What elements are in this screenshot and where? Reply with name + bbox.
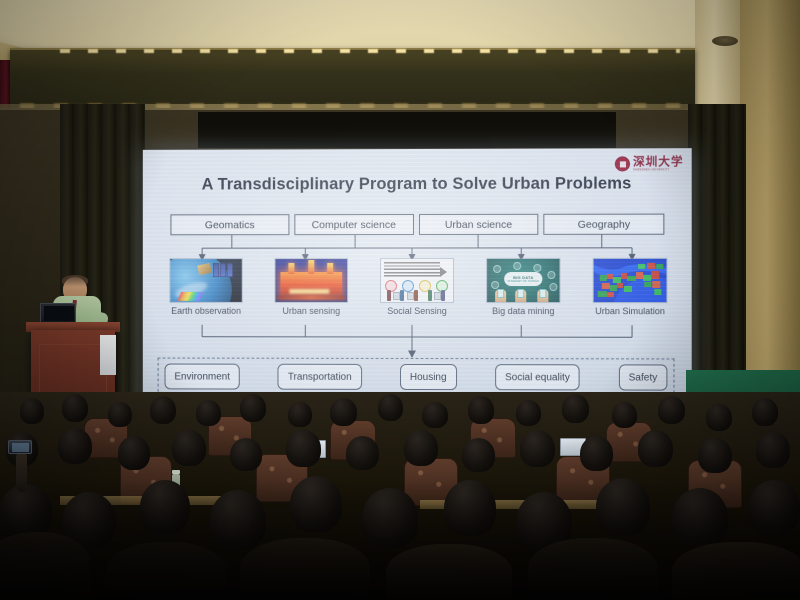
network-node-icon: [513, 262, 521, 270]
network-node-icon: [547, 271, 555, 279]
network-node-icon: [549, 283, 557, 291]
logo-text: 深圳大学: [633, 156, 684, 168]
conference-photo-scene: 深圳大学 SHENZHEN UNIVERSITY A Transdiscipli…: [0, 0, 800, 600]
bottle-cap: [172, 470, 180, 474]
audience-head: [444, 480, 496, 536]
method-row: Earth observation Urban sensing: [159, 259, 679, 316]
raised-arm: [16, 452, 27, 492]
audience-head: [422, 402, 448, 428]
spectral-swath-icon: [177, 292, 203, 301]
social-sensing-thumbnail: [381, 259, 453, 302]
audience-head: [172, 430, 206, 466]
person-placeholder: [393, 292, 400, 300]
seal-icon: [615, 156, 630, 171]
audience-head: [596, 478, 650, 536]
audience-head: [612, 402, 637, 428]
university-logo: 深圳大学 SHENZHEN UNIVERSITY: [615, 156, 684, 171]
audience-shoulders: [386, 544, 512, 600]
audience-shoulders: [672, 542, 800, 600]
method-label-urban-simulation: Urban Simulation: [595, 306, 665, 316]
landcover-map-svg: [594, 259, 667, 302]
person-placeholder: [407, 292, 414, 300]
audience-head: [108, 402, 132, 427]
audience-head: [698, 438, 732, 473]
person-figure-icon: [428, 290, 432, 301]
laptop-screen: [44, 306, 74, 321]
smartphone-icon: [497, 289, 504, 298]
network-node-icon: [533, 264, 541, 272]
person-figure-icon: [441, 290, 445, 301]
wall-dark-panel: [198, 112, 616, 148]
method-cell-earth-observation: Earth observation: [159, 259, 254, 316]
audience-head: [118, 436, 150, 470]
discipline-box-computer-science: Computer science: [294, 214, 413, 235]
logo-subtext: SHENZHEN UNIVERSITY: [633, 169, 684, 172]
big-data-line2: INTERNET OF THINGS: [508, 280, 539, 283]
big-data-mining-thumbnail: BIG DATA INTERNET OF THINGS: [487, 259, 559, 302]
audience-head: [362, 488, 418, 548]
audience-head: [240, 394, 266, 422]
method-cell-urban-sensing: Urban sensing: [264, 259, 360, 316]
method-label-big-data-mining: Big data mining: [492, 306, 554, 316]
audience-shoulders: [528, 538, 658, 600]
audience: [0, 392, 800, 600]
problem-box-transportation: Transportation: [278, 364, 362, 390]
beam-light-strip: [60, 49, 680, 53]
smartphone-icon: [539, 289, 546, 298]
solar-panel-icon: [220, 263, 226, 277]
projection-screen: 深圳大学 SHENZHEN UNIVERSITY A Transdiscipli…: [143, 148, 692, 416]
text-corpus-lines: [384, 262, 440, 278]
audience-head: [756, 432, 790, 468]
urban-sensing-thumbnail: [275, 259, 347, 302]
thermal-tower-icon: [308, 260, 314, 274]
audience-head: [230, 438, 262, 471]
big-data-cloud-icon: BIG DATA INTERNET OF THINGS: [504, 272, 542, 286]
audience-head: [468, 396, 494, 424]
problem-box-safety: Safety: [619, 364, 668, 390]
thermal-tower-icon: [288, 263, 294, 274]
audience-head: [516, 400, 541, 426]
network-node-icon: [493, 265, 501, 273]
ceiling-beam: [10, 48, 695, 110]
audience-head: [196, 400, 221, 426]
audience-head: [748, 480, 800, 536]
audience-head: [752, 398, 778, 426]
urban-problems-row: Environment Transportation Housing Socia…: [165, 364, 668, 391]
audience-head: [462, 438, 495, 472]
ceiling-vent-icon: [712, 36, 738, 46]
audience-head: [638, 430, 673, 467]
audience-head: [580, 436, 613, 471]
right-wall: [740, 0, 800, 430]
solar-panel-icon: [227, 263, 233, 277]
network-node-icon: [491, 281, 499, 289]
method-label-urban-sensing: Urban sensing: [282, 306, 340, 316]
person-figure-icon: [414, 290, 418, 301]
solar-panel-icon: [213, 263, 219, 277]
audience-head: [562, 394, 589, 423]
audience-head: [672, 488, 728, 548]
audience-head: [288, 402, 312, 427]
audience-head: [62, 394, 88, 422]
discipline-box-geomatics: Geomatics: [170, 214, 289, 235]
audience-head: [150, 396, 176, 424]
audience-head: [210, 490, 266, 550]
urban-simulation-thumbnail: [594, 259, 667, 302]
audience-head: [290, 476, 342, 532]
method-label-social-sensing: Social Sensing: [387, 306, 447, 316]
audience-shoulders: [240, 538, 370, 600]
problem-box-environment: Environment: [165, 364, 240, 390]
slide-title: A Transdisciplinary Program to Solve Urb…: [143, 174, 692, 194]
audience-head: [58, 428, 92, 464]
person-figure-icon: [387, 290, 391, 301]
audience-head: [140, 480, 190, 534]
problem-box-social-equality: Social equality: [495, 364, 580, 390]
discipline-row: Geomatics Computer science Urban science…: [170, 214, 664, 236]
problem-box-housing: Housing: [400, 364, 457, 390]
audience-head: [520, 430, 555, 467]
audience-head: [706, 404, 732, 431]
audience-shoulders: [106, 542, 226, 600]
thermal-base-glow: [277, 295, 345, 300]
earth-observation-thumbnail: [170, 259, 241, 302]
presentation-slide: 深圳大学 SHENZHEN UNIVERSITY A Transdiscipli…: [143, 148, 692, 416]
thermal-hotspot: [289, 289, 329, 294]
audience-head: [378, 394, 403, 421]
smartphone-icon: [517, 289, 524, 298]
audience-head: [330, 398, 357, 426]
person-figure-icon: [400, 290, 404, 301]
person-placeholder: [434, 292, 441, 300]
audience-head: [404, 430, 438, 466]
method-cell-urban-simulation: Urban Simulation: [582, 259, 679, 316]
podium-paper-sheet: [100, 335, 116, 375]
audience-shoulders: [0, 532, 90, 600]
smartphone-camera: [8, 440, 32, 454]
discipline-box-geography: Geography: [544, 214, 665, 235]
method-label-earth-observation: Earth observation: [171, 306, 241, 316]
process-arrow-icon: [440, 267, 447, 277]
phone-screen: [12, 443, 29, 452]
audience-head: [346, 436, 379, 470]
audience-head: [658, 396, 685, 424]
podium-front-panel: [39, 344, 107, 396]
method-cell-social-sensing: Social Sensing: [369, 259, 465, 316]
method-cell-big-data-mining: BIG DATA INTERNET OF THINGS Big data min…: [475, 259, 571, 316]
audience-head: [20, 398, 44, 424]
discipline-box-urban-science: Urban science: [418, 214, 538, 235]
thermal-tower-icon: [327, 263, 333, 274]
audience-head: [286, 430, 321, 467]
